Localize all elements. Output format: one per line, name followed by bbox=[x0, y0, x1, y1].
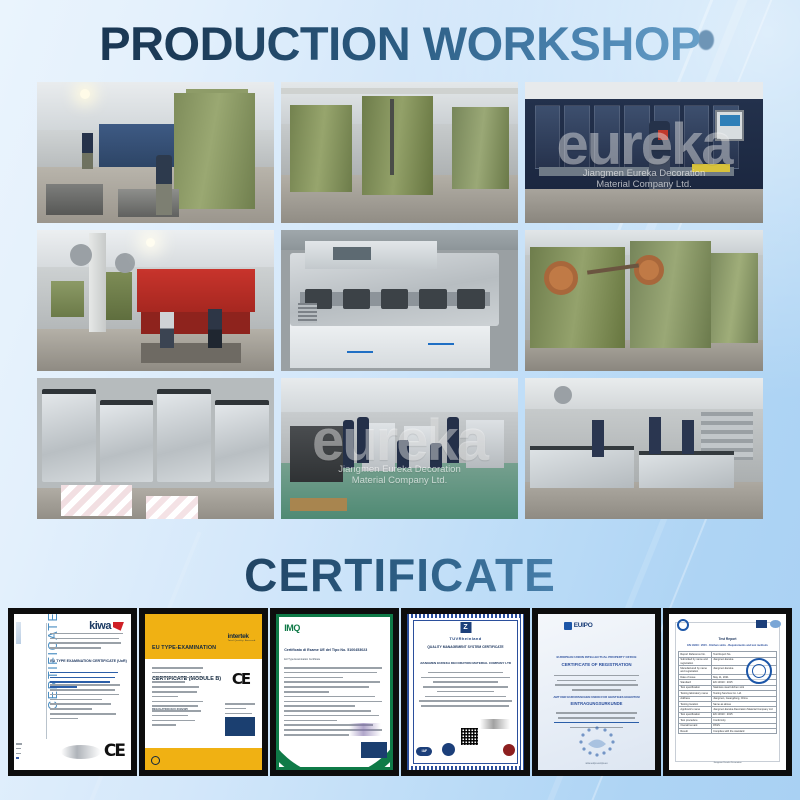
text-line bbox=[284, 691, 329, 693]
row-value: Jiangmen, Guangdong, China bbox=[712, 697, 776, 701]
worker-figure bbox=[208, 309, 222, 348]
finishing-table bbox=[639, 451, 734, 488]
laboratory-seal bbox=[746, 658, 772, 684]
certificate-page: CERTIFICATE kiwa bbox=[14, 614, 131, 770]
workshop-punch-press-line[interactable] bbox=[37, 82, 274, 223]
material-cart bbox=[46, 184, 103, 215]
worker-figure bbox=[430, 443, 442, 468]
row-key: Date of issue bbox=[679, 675, 712, 679]
divider bbox=[46, 623, 47, 738]
stainless-sink bbox=[157, 389, 211, 482]
intertek-logo: intertek Total Quality. Assured. bbox=[228, 633, 257, 642]
control-panel bbox=[715, 110, 744, 141]
kiwa-flag-icon bbox=[113, 622, 124, 631]
punch-press-green bbox=[711, 253, 759, 343]
punch-press-green bbox=[452, 107, 509, 189]
intertek-logo-tagline: Total Quality. Assured. bbox=[228, 640, 257, 642]
text-line bbox=[554, 675, 639, 677]
tooling-station-row bbox=[535, 105, 740, 170]
row-key: Address bbox=[679, 697, 712, 701]
certificate-heading: Certificato di Esame UE del Tipo No. 510… bbox=[284, 648, 367, 652]
machine-base-cabinet bbox=[290, 323, 489, 368]
imq-logo-text: IMQ bbox=[284, 623, 300, 633]
row-key: Report Reference No. bbox=[679, 652, 712, 656]
photo-scene bbox=[281, 82, 518, 223]
worker-figure bbox=[447, 417, 459, 462]
text-line bbox=[421, 677, 511, 679]
row-value: Same as above bbox=[712, 702, 776, 706]
scene-ceiling bbox=[525, 82, 763, 99]
signature bbox=[349, 723, 382, 735]
text-line bbox=[50, 694, 119, 696]
certificate-company-name: JIANGMEN EUREKA DECORATION MATERIAL COMP… bbox=[420, 661, 511, 665]
signature bbox=[61, 745, 101, 759]
workshop-sink-finishing[interactable] bbox=[525, 378, 763, 519]
workshop-cnc-press-brake[interactable]: eureka Jiangmen Eureka Decoration Materi… bbox=[525, 82, 763, 223]
clamp bbox=[381, 289, 408, 309]
text-line bbox=[284, 667, 382, 669]
assembly-machine bbox=[466, 420, 504, 468]
text-line bbox=[557, 680, 635, 682]
text-line bbox=[50, 633, 123, 635]
clamp-row bbox=[305, 289, 485, 309]
certificate-heading-line-2: CERTIFICATE OF REGISTRATION bbox=[561, 662, 631, 667]
worker-figure bbox=[592, 420, 604, 457]
support-column bbox=[89, 233, 106, 332]
text-line bbox=[419, 700, 513, 702]
text-line bbox=[558, 717, 634, 719]
text-line bbox=[572, 689, 622, 691]
text-line bbox=[152, 686, 199, 688]
intertek-eu-type-examination-certificate[interactable]: EU TYPE-EXAMINATION CERTIFICATE (MODULE … bbox=[139, 608, 268, 776]
certificate-page: Z TUVRheinland QUALITY MANAGEMENT SYSTEM… bbox=[407, 614, 524, 770]
scene-ceiling bbox=[281, 378, 518, 412]
certificate-page: Test Report EN 13310 : 2015 - Kitchen si… bbox=[669, 614, 786, 770]
text-line bbox=[421, 705, 509, 707]
text-line bbox=[16, 748, 21, 750]
packing-material bbox=[61, 485, 132, 516]
row-key: Submitted by name and registration bbox=[679, 658, 712, 666]
work-bench bbox=[141, 343, 241, 363]
air-hose bbox=[390, 99, 394, 175]
text-line bbox=[284, 677, 343, 679]
accredia-badge bbox=[225, 717, 255, 736]
stainless-sink bbox=[100, 400, 154, 482]
text-line bbox=[50, 638, 119, 640]
row-value: Test Report No. bbox=[712, 652, 776, 656]
photo-scene bbox=[281, 378, 518, 519]
row-value: Jiangmen Eureka Decoration Material Comp… bbox=[712, 707, 776, 711]
sink-row bbox=[42, 389, 270, 482]
eu-stars-emblem-icon bbox=[574, 724, 620, 758]
tuv-logo-icon: Z bbox=[460, 622, 471, 633]
text-line bbox=[284, 701, 382, 703]
worker-figure bbox=[357, 417, 369, 462]
text-line bbox=[152, 696, 178, 698]
worker-figure bbox=[82, 133, 93, 170]
row-value: PASS bbox=[712, 724, 776, 728]
punch-press-green bbox=[51, 281, 84, 318]
text-line bbox=[50, 699, 102, 701]
imq-eu-type-examination-certificate[interactable]: IMQ Certificato di Esame UE del Tipo No.… bbox=[270, 608, 399, 776]
text-line bbox=[16, 757, 20, 759]
photo-scene bbox=[37, 378, 274, 519]
row-key: Test specification bbox=[679, 686, 712, 690]
overhead-pipe bbox=[281, 88, 518, 94]
punch-press-green bbox=[174, 93, 255, 209]
ce-mark: CE bbox=[104, 741, 124, 761]
text-line bbox=[152, 724, 176, 726]
text-line bbox=[284, 720, 337, 722]
ce-mark: CE bbox=[232, 670, 249, 688]
certificate-side-footer bbox=[16, 742, 22, 761]
row-key: Test specification bbox=[679, 713, 712, 717]
text-line bbox=[433, 681, 499, 683]
certificate-strip: CERTIFICATE kiwa bbox=[8, 608, 792, 776]
row-value: Complies with the standard bbox=[712, 729, 776, 733]
certificate-body-lines-en bbox=[552, 673, 641, 692]
certificate-page: EU TYPE-EXAMINATION CERTIFICATE (MODULE … bbox=[145, 614, 262, 770]
signature bbox=[480, 719, 510, 730]
direction-arrow-icon bbox=[428, 343, 454, 345]
ceiling-lamp bbox=[80, 89, 90, 99]
certificate-page: EUIPO EUROPEAN UNION INTELLECTUAL PROPER… bbox=[538, 614, 655, 770]
row-key: Standard bbox=[679, 680, 712, 684]
press-brake-base bbox=[141, 312, 250, 335]
certificate-subheading: EU Type Examination Certificate bbox=[284, 658, 320, 661]
certificate-heading-line-3: AMT DER EUROPAISCHEN UNION FUR GEISTIGES… bbox=[553, 695, 639, 699]
workshop-stainless-sinks[interactable] bbox=[37, 378, 274, 519]
photo-scene bbox=[37, 82, 274, 223]
row-value: Stainless steel kitchen sink bbox=[712, 686, 776, 690]
text-line bbox=[50, 684, 120, 686]
finishing-table bbox=[530, 446, 635, 488]
certificate-heading-line-1: EUROPEAN UNION INTELLECTUAL PROPERTY OFF… bbox=[556, 655, 636, 659]
text-line bbox=[284, 710, 370, 712]
text-line bbox=[152, 691, 197, 693]
worker-figure bbox=[397, 440, 409, 468]
text-line bbox=[152, 710, 201, 712]
press-brake-red bbox=[137, 269, 256, 311]
production-workshop-title: PRODUCTION WORKSHOP bbox=[0, 16, 800, 72]
text-line bbox=[152, 681, 185, 683]
photo-scene bbox=[525, 378, 763, 519]
text-line bbox=[284, 696, 374, 698]
worker-figure bbox=[343, 420, 355, 468]
text-line bbox=[225, 703, 255, 705]
workshop-flywheel-presses[interactable] bbox=[525, 230, 763, 371]
text-line bbox=[50, 647, 101, 649]
tuv-logo-text: TUVRheinland bbox=[449, 636, 481, 641]
text-line bbox=[284, 734, 349, 736]
text-line bbox=[225, 708, 246, 710]
direction-arrow-icon bbox=[347, 351, 373, 353]
photo-scene bbox=[37, 230, 274, 371]
photo-row: eureka Jiangmen Eureka Decoration Materi… bbox=[37, 378, 763, 519]
clamp bbox=[343, 289, 370, 309]
text-line bbox=[50, 718, 78, 720]
row-key: Test procedure bbox=[679, 718, 712, 722]
tooling-station bbox=[684, 105, 710, 170]
intertek-logo-text: intertek bbox=[228, 633, 249, 640]
row-value: EN 13310 : 2015 bbox=[712, 713, 776, 717]
machine-hood bbox=[305, 241, 438, 269]
text-line bbox=[50, 642, 121, 644]
text-line bbox=[428, 672, 503, 674]
clamp bbox=[419, 289, 446, 309]
text-line bbox=[284, 715, 378, 717]
certificate-heading-line-4: EINTRAGUNGSURKUNDE bbox=[571, 701, 623, 706]
punch-press-green bbox=[362, 96, 433, 195]
row-key: Testing laboratory name bbox=[679, 691, 712, 695]
iaf-badge: IAF bbox=[416, 747, 432, 756]
text-line bbox=[50, 708, 92, 710]
control-panel-screen bbox=[720, 115, 740, 126]
shipping-crate bbox=[290, 426, 342, 482]
euipo-logo: EUIPO bbox=[564, 622, 593, 630]
workshop-photo-grid: eureka Jiangmen Eureka Decoration Materi… bbox=[37, 82, 763, 526]
certificate-body-lines bbox=[50, 683, 120, 721]
row-value: Testing Services Co. Ltd. bbox=[712, 691, 776, 695]
test-report-certificate[interactable]: Test Report EN 13310 : 2015 - Kitchen si… bbox=[663, 608, 792, 776]
workshop-red-press-brake[interactable] bbox=[37, 230, 274, 371]
row-value: Conformity bbox=[712, 718, 776, 722]
table-row: Result Complies with the standard bbox=[679, 729, 775, 733]
certificate-title: CERTIFICATE bbox=[0, 548, 800, 602]
tooling-station bbox=[535, 105, 561, 170]
wooden-pallet bbox=[290, 498, 347, 511]
text-line bbox=[555, 684, 639, 686]
text-line bbox=[16, 743, 22, 745]
photo-scene bbox=[525, 230, 763, 371]
photo-row bbox=[37, 230, 763, 371]
text-line bbox=[284, 681, 380, 683]
punch-press-green bbox=[530, 247, 625, 349]
quality-management-system-certificate[interactable]: Z TUVRheinland QUALITY MANAGEMENT SYSTEM… bbox=[401, 608, 530, 776]
certificate-heading-line-1: EU TYPE-EXAMINATION bbox=[152, 645, 216, 651]
text-line bbox=[50, 672, 118, 674]
text-line bbox=[50, 677, 115, 679]
photo-scene bbox=[525, 82, 763, 223]
photo-scene bbox=[281, 230, 518, 371]
kiwa-eu-type-examination-certificate[interactable]: CERTIFICATE kiwa bbox=[8, 608, 137, 776]
certificate-heading: Test Report bbox=[718, 637, 736, 641]
text-line bbox=[50, 713, 116, 715]
euipo-logo-icon bbox=[564, 622, 572, 630]
certificate-meta-table bbox=[50, 631, 123, 650]
certificate-footer-url: www.euipo.europa.eu bbox=[585, 763, 607, 765]
certificate-side-panel: CERTIFICATE bbox=[14, 614, 44, 770]
certificate-footer: Jiangmen Eureka Decoration bbox=[713, 762, 741, 764]
row-key: Result bbox=[679, 729, 712, 733]
certificate-footer-band bbox=[145, 748, 262, 770]
workshop-green-machines[interactable] bbox=[281, 82, 518, 223]
accredia-badge bbox=[361, 742, 387, 758]
packing-material bbox=[146, 496, 198, 519]
marketing-page: PRODUCTION WORKSHOP bbox=[0, 0, 800, 800]
certificate-footer-text: Jiangmen Eureka Decoration bbox=[713, 762, 741, 764]
euipo-logo-text: EUIPO bbox=[574, 622, 593, 629]
text-line bbox=[152, 667, 203, 669]
clamp bbox=[457, 289, 484, 309]
certificate-page: IMQ Certificato di Esame UE del Tipo No.… bbox=[276, 614, 393, 770]
worker-logo-patch bbox=[658, 130, 668, 140]
text-line bbox=[423, 686, 507, 688]
certification-seal bbox=[503, 744, 515, 756]
wall-fan bbox=[115, 253, 135, 273]
accreditation-badge bbox=[756, 620, 767, 628]
text-line bbox=[425, 696, 505, 698]
certificate-heading: EU TYPE EXAMINATION CERTIFICATE (UoR) bbox=[50, 659, 127, 663]
qr-code bbox=[461, 728, 478, 745]
text-line bbox=[50, 703, 110, 705]
text-line bbox=[225, 713, 252, 715]
tooling-station bbox=[594, 105, 620, 170]
wall-fan bbox=[554, 386, 572, 404]
text-line bbox=[16, 753, 21, 755]
row-key: Manufactured by name and registration bbox=[679, 666, 712, 674]
scene-floor bbox=[525, 189, 763, 223]
row-key: Applicant's name bbox=[679, 707, 712, 711]
worker-figure bbox=[649, 417, 661, 454]
text-line bbox=[152, 701, 203, 703]
certificate-heading: QUALITY MANAGEMENT SYSTEM CERTIFICATE bbox=[427, 645, 503, 649]
certificate-body-lines bbox=[419, 670, 513, 708]
text-line bbox=[152, 720, 195, 722]
tooling-station bbox=[624, 105, 650, 170]
safety-marking bbox=[692, 164, 730, 172]
worker-figure bbox=[682, 420, 694, 454]
decorative-square bbox=[16, 622, 21, 644]
text-line bbox=[284, 672, 376, 674]
tooling-station bbox=[564, 105, 590, 170]
stainless-sink bbox=[42, 389, 96, 482]
laboratory-logo-icon bbox=[677, 619, 689, 631]
text-line bbox=[284, 686, 369, 688]
text-line bbox=[556, 712, 638, 714]
row-key: Testing location bbox=[679, 702, 712, 706]
photo-row: eureka Jiangmen Eureka Decoration Materi… bbox=[37, 82, 763, 223]
certificate-subheading: EN 13310 : 2015 - Kitchen sinks - Requir… bbox=[687, 644, 768, 647]
workshop-stainless-machine[interactable] bbox=[281, 230, 518, 371]
flywheel bbox=[544, 261, 578, 295]
text-line bbox=[152, 715, 188, 717]
certificate-body-lines bbox=[152, 665, 203, 727]
text-line bbox=[152, 672, 201, 674]
inspection-window bbox=[333, 247, 371, 260]
workshop-assembly-line[interactable]: eureka Jiangmen Eureka Decoration Materi… bbox=[281, 378, 518, 519]
euipo-certificate-of-registration[interactable]: EUIPO EUROPEAN UNION INTELLECTUAL PROPER… bbox=[532, 608, 661, 776]
text-line bbox=[152, 705, 198, 707]
text-line bbox=[152, 677, 202, 679]
worker-figure bbox=[160, 312, 174, 349]
text-line bbox=[437, 691, 493, 693]
worker-figure bbox=[156, 155, 173, 214]
punch-press-green bbox=[290, 105, 352, 192]
vent-grille bbox=[298, 303, 317, 323]
text-line bbox=[284, 705, 355, 707]
row-key: Overall remark bbox=[679, 724, 712, 728]
cnas-badge bbox=[442, 743, 455, 756]
stainless-sink bbox=[215, 400, 269, 482]
text-line bbox=[50, 689, 115, 691]
